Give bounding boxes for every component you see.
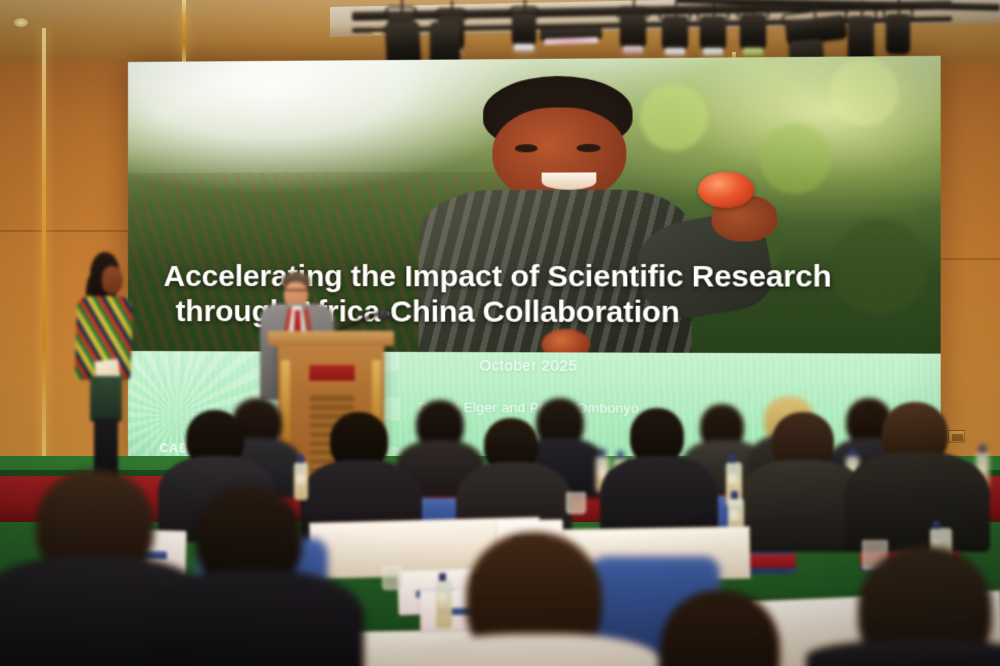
slide-date: October 2025 [128,356,941,376]
farmer-eye-right [577,144,600,151]
water-bottle [436,580,452,628]
attendee-body [146,570,364,666]
drinking-glass [382,566,402,590]
glasses-icon [284,289,308,294]
presenter-face [102,266,123,294]
stage-spotlight [512,14,536,46]
led-bar-light [540,27,602,41]
stage-spotlight [662,16,688,50]
stage-spotlight [886,14,910,54]
water-bottle [294,462,308,500]
standing-presenter [74,252,134,484]
conference-photo: Accelerating the Impact of Scientific Re… [0,0,1000,666]
stage-spotlight [740,14,766,50]
stage-spotlight [620,14,646,48]
attendee-body [806,640,1000,666]
podium-top [268,331,394,346]
presenter-skirt [90,376,122,422]
wall-accent-light [42,28,46,480]
stage-spotlight [700,16,726,50]
drinking-glass [566,492,586,514]
attendee-body [844,452,990,552]
farmer-eye-left [515,145,538,152]
ceiling-downlight [14,18,28,27]
podium-plaque [308,364,356,382]
wall-seam [0,230,128,232]
wall-power-outlet [948,430,965,443]
wall-accent-light [182,0,186,62]
